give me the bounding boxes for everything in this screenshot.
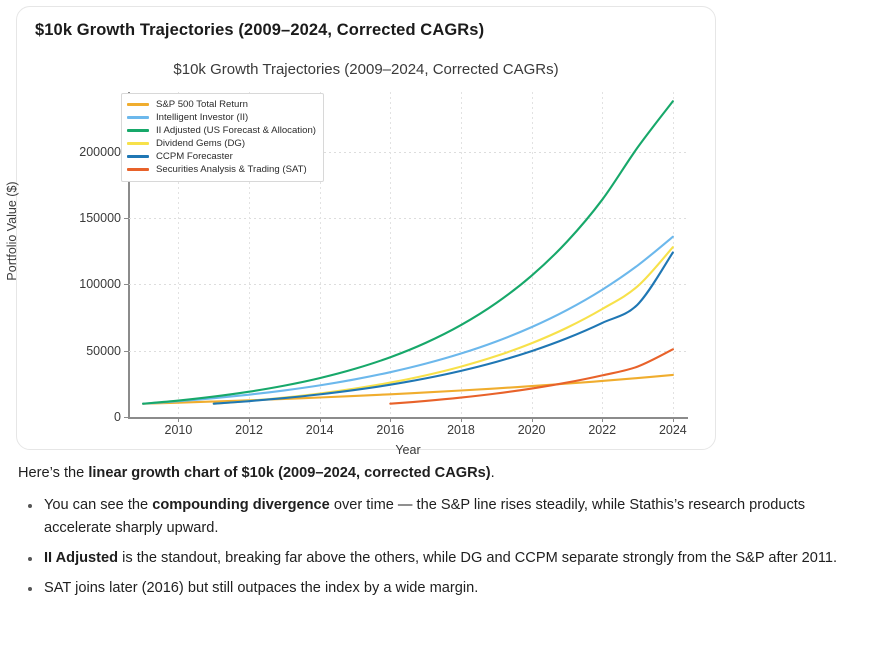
x-tick-label: 2012 [235, 423, 263, 437]
x-tick-mark [602, 418, 603, 422]
legend-label: CCPM Forecaster [156, 150, 233, 163]
x-tick-mark [532, 418, 533, 422]
list-item: SAT joins later (2016) but still outpace… [18, 577, 854, 601]
legend-swatch-icon [127, 129, 149, 132]
y-tick-label: 0 [114, 410, 121, 424]
page-root: $10k Growth Trajectories (2009–2024, Cor… [0, 0, 870, 664]
bullet-text-pre: You can see the [44, 497, 152, 513]
legend-label: Intelligent Investor (II) [156, 111, 248, 124]
lede-suffix: . [491, 465, 495, 481]
x-tick-mark [320, 418, 321, 422]
legend-swatch-icon [127, 142, 149, 145]
legend-item[interactable]: II Adjusted (US Forecast & Allocation) [127, 124, 316, 137]
x-tick-label: 2022 [588, 423, 616, 437]
y-tick-mark [124, 284, 128, 285]
figure: $10k Growth Trajectories (2009–2024, Cor… [17, 51, 715, 449]
bullet-text-bold: compounding divergence [152, 497, 330, 513]
legend-label: Securities Analysis & Trading (SAT) [156, 163, 307, 176]
y-tick-label: 200000 [79, 145, 121, 159]
legend-label: Dividend Gems (DG) [156, 137, 245, 150]
bullet-text-post: is the standout, breaking far above the … [118, 550, 837, 566]
x-tick-mark [390, 418, 391, 422]
bullet-text-bold: II Adjusted [44, 550, 118, 566]
legend-swatch-icon [127, 116, 149, 119]
legend-item[interactable]: Intelligent Investor (II) [127, 111, 316, 124]
chart-title: $10k Growth Trajectories (2009–2024, Cor… [17, 61, 715, 78]
plot-area: S&P 500 Total ReturnIntelligent Investor… [129, 92, 687, 417]
legend-item[interactable]: CCPM Forecaster [127, 150, 316, 163]
chart-card: $10k Growth Trajectories (2009–2024, Cor… [16, 6, 716, 450]
x-tick-mark [673, 418, 674, 422]
x-axis-line [128, 417, 688, 419]
x-tick-mark [178, 418, 179, 422]
y-tick-label: 50000 [86, 344, 121, 358]
explanation-body: Here’s the linear growth chart of $10k (… [18, 462, 854, 606]
x-tick-label: 2024 [659, 423, 687, 437]
x-axis-label: Year [129, 443, 687, 457]
legend-label: S&P 500 Total Return [156, 98, 248, 111]
y-tick-mark [124, 351, 128, 352]
y-axis-label: Portfolio Value ($) [5, 181, 19, 280]
bullet-list: You can see the compounding divergence o… [18, 494, 854, 601]
legend-item[interactable]: Securities Analysis & Trading (SAT) [127, 163, 316, 176]
x-tick-mark [461, 418, 462, 422]
legend-item[interactable]: S&P 500 Total Return [127, 98, 316, 111]
chart-legend: S&P 500 Total ReturnIntelligent Investor… [121, 93, 324, 182]
y-tick-mark [124, 218, 128, 219]
card-title: $10k Growth Trajectories (2009–2024, Cor… [35, 21, 484, 40]
legend-swatch-icon [127, 103, 149, 106]
legend-label: II Adjusted (US Forecast & Allocation) [156, 124, 316, 137]
list-item: You can see the compounding divergence o… [18, 494, 854, 541]
list-item: II Adjusted is the standout, breaking fa… [18, 547, 854, 571]
x-tick-mark [249, 418, 250, 422]
x-tick-label: 2014 [306, 423, 334, 437]
x-tick-label: 2010 [165, 423, 193, 437]
y-tick-label: 150000 [79, 211, 121, 225]
lede-bold: linear growth chart of $10k (2009–2024, … [88, 465, 490, 481]
legend-item[interactable]: Dividend Gems (DG) [127, 137, 316, 150]
legend-swatch-icon [127, 168, 149, 171]
x-tick-label: 2020 [518, 423, 546, 437]
x-tick-label: 2018 [447, 423, 475, 437]
legend-swatch-icon [127, 155, 149, 158]
y-tick-mark [124, 417, 128, 418]
x-tick-label: 2016 [376, 423, 404, 437]
y-tick-label: 100000 [79, 277, 121, 291]
lede-paragraph: Here’s the linear growth chart of $10k (… [18, 462, 854, 486]
bullet-text-pre: SAT joins later (2016) but still outpace… [44, 580, 478, 596]
lede-prefix: Here’s the [18, 465, 88, 481]
